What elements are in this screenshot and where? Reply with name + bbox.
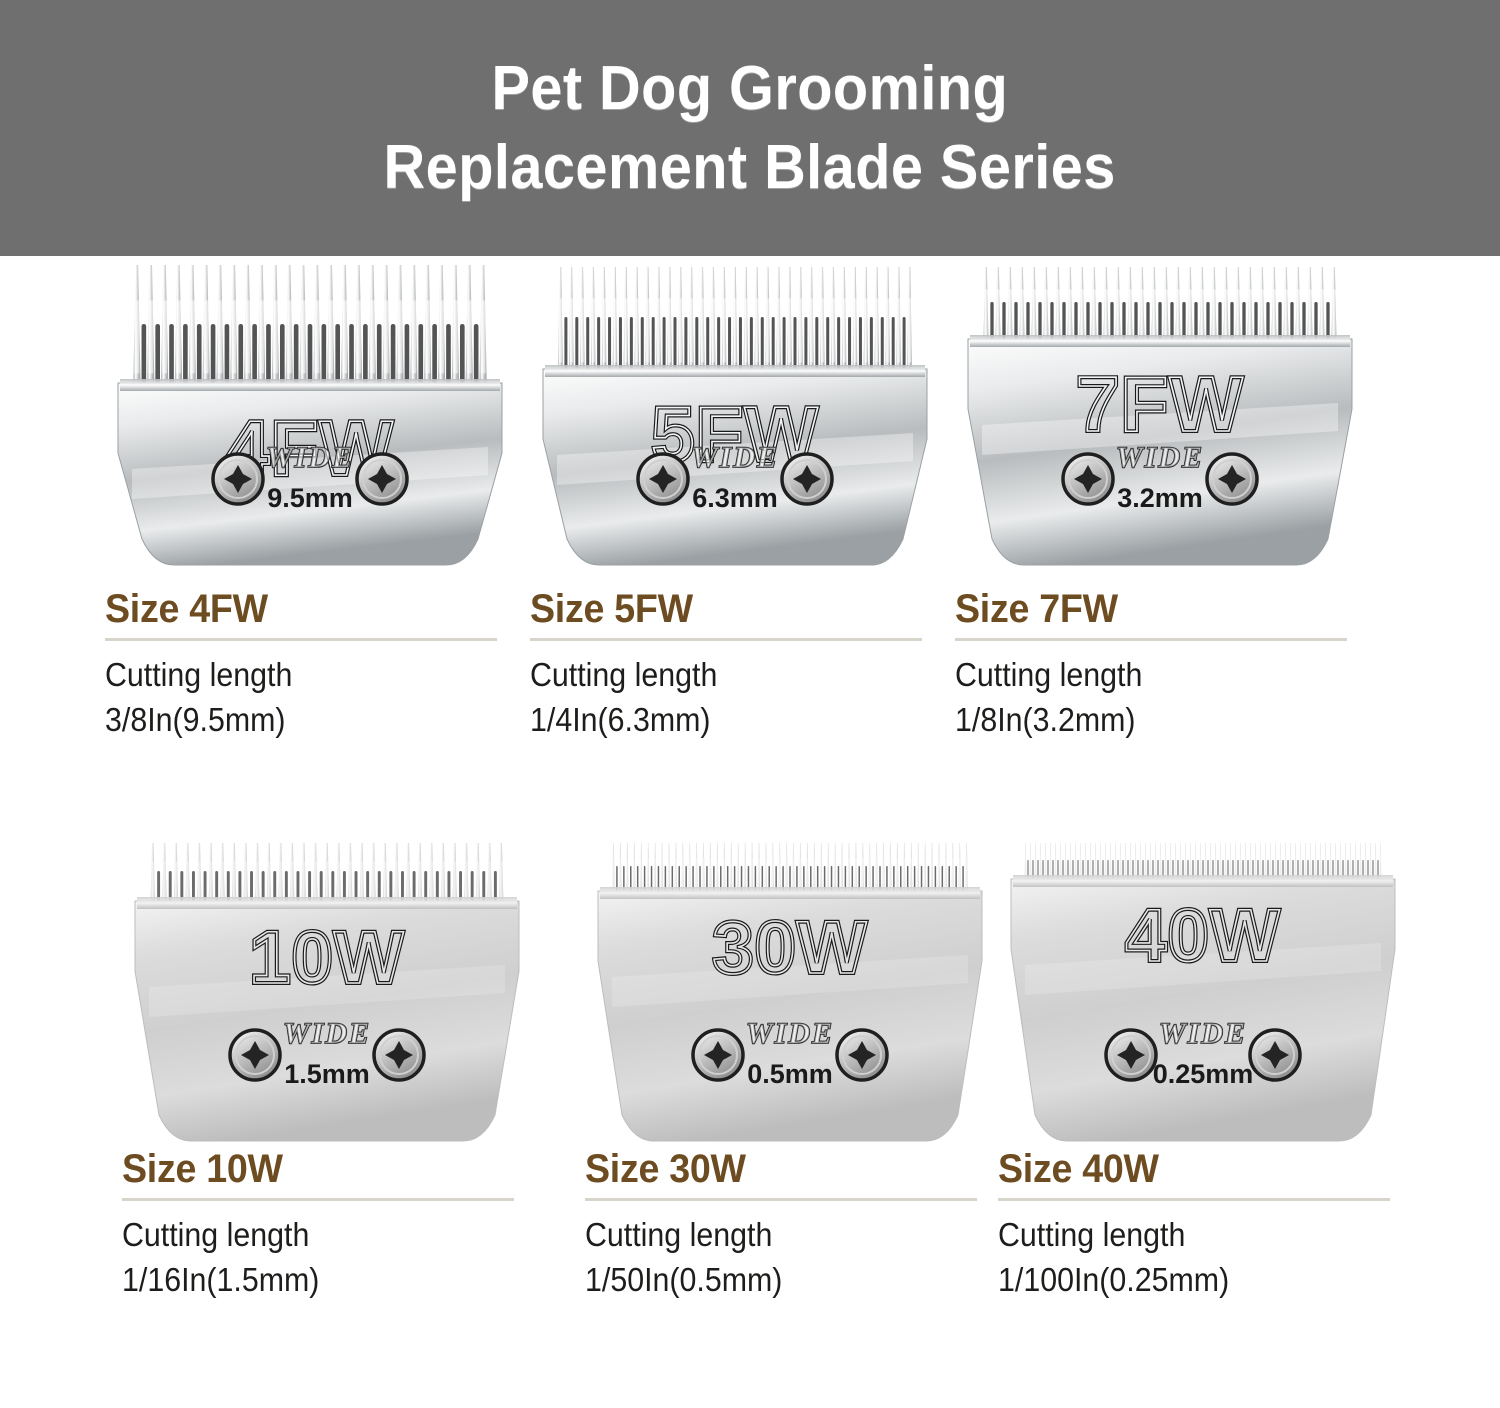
blade-image-5fw: 5FW 5FW WIDE WIDE 6.3mm bbox=[520, 256, 950, 576]
product-label-10w: Size 10W Cutting length 1/16In(1.5mm) bbox=[122, 1148, 522, 1302]
blade-graphic-10w: 10W 10W WIDE WIDE 1.5mm bbox=[127, 835, 527, 1152]
size-title: Size 7FW bbox=[955, 588, 1331, 630]
title-divider bbox=[105, 638, 497, 641]
blade-image-10w: 10W 10W WIDE WIDE 1.5mm bbox=[112, 832, 542, 1152]
cutting-length-value: 1/16In(1.5mm) bbox=[122, 1258, 490, 1303]
header-title-line-2: Replacement Blade Series bbox=[384, 128, 1116, 207]
product-card-10w: 10W 10W WIDE WIDE 1.5mm Size 10W Cutting… bbox=[112, 832, 542, 1408]
svg-text:WIDE: WIDE bbox=[266, 441, 354, 474]
product-row-bottom: 10W 10W WIDE WIDE 1.5mm Size 10W Cutting… bbox=[0, 832, 1500, 1408]
blade-image-7fw: 7FW 7FW WIDE WIDE 3.2mm bbox=[945, 256, 1375, 576]
cutting-length-label: Cutting length bbox=[530, 653, 898, 698]
svg-text:WIDE: WIDE bbox=[1116, 441, 1204, 474]
svg-text:WIDE: WIDE bbox=[1159, 1017, 1247, 1050]
header-title-line-1: Pet Dog Grooming bbox=[492, 49, 1009, 128]
blade-image-4fw: 4FW 4FW WIDE WIDE 9.5mm bbox=[95, 256, 525, 576]
product-grid: 4FW 4FW WIDE WIDE 9.5mm Size 4FW Cutting… bbox=[0, 256, 1500, 1408]
blade-teeth bbox=[133, 265, 487, 395]
title-divider bbox=[955, 638, 1347, 641]
header-banner: Pet Dog Grooming Replacement Blade Serie… bbox=[0, 0, 1500, 256]
svg-text:1.5mm: 1.5mm bbox=[284, 1059, 370, 1089]
cutting-length-value: 1/100In(0.25mm) bbox=[998, 1258, 1366, 1303]
size-title: Size 30W bbox=[585, 1148, 961, 1190]
product-card-4fw: 4FW 4FW WIDE WIDE 9.5mm Size 4FW Cutting… bbox=[95, 256, 525, 832]
title-divider bbox=[585, 1198, 977, 1201]
blade-graphic-7fw: 7FW 7FW WIDE WIDE 3.2mm bbox=[960, 259, 1360, 576]
blade-image-30w: 30W 30W WIDE WIDE 0.5mm bbox=[575, 832, 1005, 1152]
size-title: Size 4FW bbox=[105, 588, 481, 630]
cutting-length-label: Cutting length bbox=[105, 653, 473, 698]
title-divider bbox=[122, 1198, 514, 1201]
title-divider bbox=[530, 638, 922, 641]
size-title: Size 10W bbox=[122, 1148, 498, 1190]
cutting-length-value: 1/50In(0.5mm) bbox=[585, 1258, 953, 1303]
blade-teeth bbox=[558, 267, 912, 381]
product-label-40w: Size 40W Cutting length 1/100In(0.25mm) bbox=[998, 1148, 1398, 1302]
product-label-5fw: Size 5FW Cutting length 1/4In(6.3mm) bbox=[530, 588, 930, 742]
svg-text:6.3mm: 6.3mm bbox=[692, 483, 778, 513]
svg-text:WIDE: WIDE bbox=[283, 1017, 371, 1050]
svg-text:7FW: 7FW bbox=[1076, 360, 1244, 448]
product-card-5fw: 5FW 5FW WIDE WIDE 6.3mm Size 5FW Cutting… bbox=[520, 256, 950, 832]
cutting-length-label: Cutting length bbox=[998, 1213, 1366, 1258]
cutting-length-value: 3/8In(9.5mm) bbox=[105, 698, 473, 743]
svg-text:WIDE: WIDE bbox=[691, 441, 779, 474]
blade-image-40w: 40W 40W WIDE WIDE 0.25mm bbox=[988, 832, 1418, 1152]
cutting-length-value: 1/4In(6.3mm) bbox=[530, 698, 898, 743]
product-infographic: Pet Dog Grooming Replacement Blade Serie… bbox=[0, 0, 1500, 1408]
blade-graphic-5fw: 5FW 5FW WIDE WIDE 6.3mm bbox=[535, 259, 935, 576]
size-title: Size 5FW bbox=[530, 588, 906, 630]
cutting-length-label: Cutting length bbox=[585, 1213, 953, 1258]
blade-graphic-4fw: 4FW 4FW WIDE WIDE 9.5mm bbox=[110, 259, 510, 576]
svg-text:30W: 30W bbox=[712, 906, 867, 989]
cutting-length-label: Cutting length bbox=[955, 653, 1323, 698]
svg-text:3.2mm: 3.2mm bbox=[1117, 483, 1203, 513]
title-divider bbox=[998, 1198, 1390, 1201]
blade-graphic-40w: 40W 40W WIDE WIDE 0.25mm bbox=[1003, 835, 1403, 1152]
product-label-4fw: Size 4FW Cutting length 3/8In(9.5mm) bbox=[105, 588, 505, 742]
cutting-length-label: Cutting length bbox=[122, 1213, 490, 1258]
svg-text:WIDE: WIDE bbox=[746, 1017, 834, 1050]
svg-text:0.5mm: 0.5mm bbox=[747, 1059, 833, 1089]
product-card-30w: 30W 30W WIDE WIDE 0.5mm Size 30W Cutting… bbox=[575, 832, 1005, 1408]
svg-text:9.5mm: 9.5mm bbox=[267, 483, 353, 513]
svg-text:10W: 10W bbox=[249, 916, 404, 999]
size-title: Size 40W bbox=[998, 1148, 1374, 1190]
cutting-length-value: 1/8In(3.2mm) bbox=[955, 698, 1323, 743]
product-row-top: 4FW 4FW WIDE WIDE 9.5mm Size 4FW Cutting… bbox=[0, 256, 1500, 832]
product-card-7fw: 7FW 7FW WIDE WIDE 3.2mm Size 7FW Cutting… bbox=[945, 256, 1375, 832]
svg-text:40W: 40W bbox=[1125, 894, 1280, 977]
svg-text:0.25mm: 0.25mm bbox=[1153, 1059, 1254, 1089]
product-card-40w: 40W 40W WIDE WIDE 0.25mm Size 40W Cuttin… bbox=[988, 832, 1418, 1408]
blade-graphic-30w: 30W 30W WIDE WIDE 0.5mm bbox=[590, 835, 990, 1152]
product-label-7fw: Size 7FW Cutting length 1/8In(3.2mm) bbox=[955, 588, 1355, 742]
product-label-30w: Size 30W Cutting length 1/50In(0.5mm) bbox=[585, 1148, 985, 1302]
